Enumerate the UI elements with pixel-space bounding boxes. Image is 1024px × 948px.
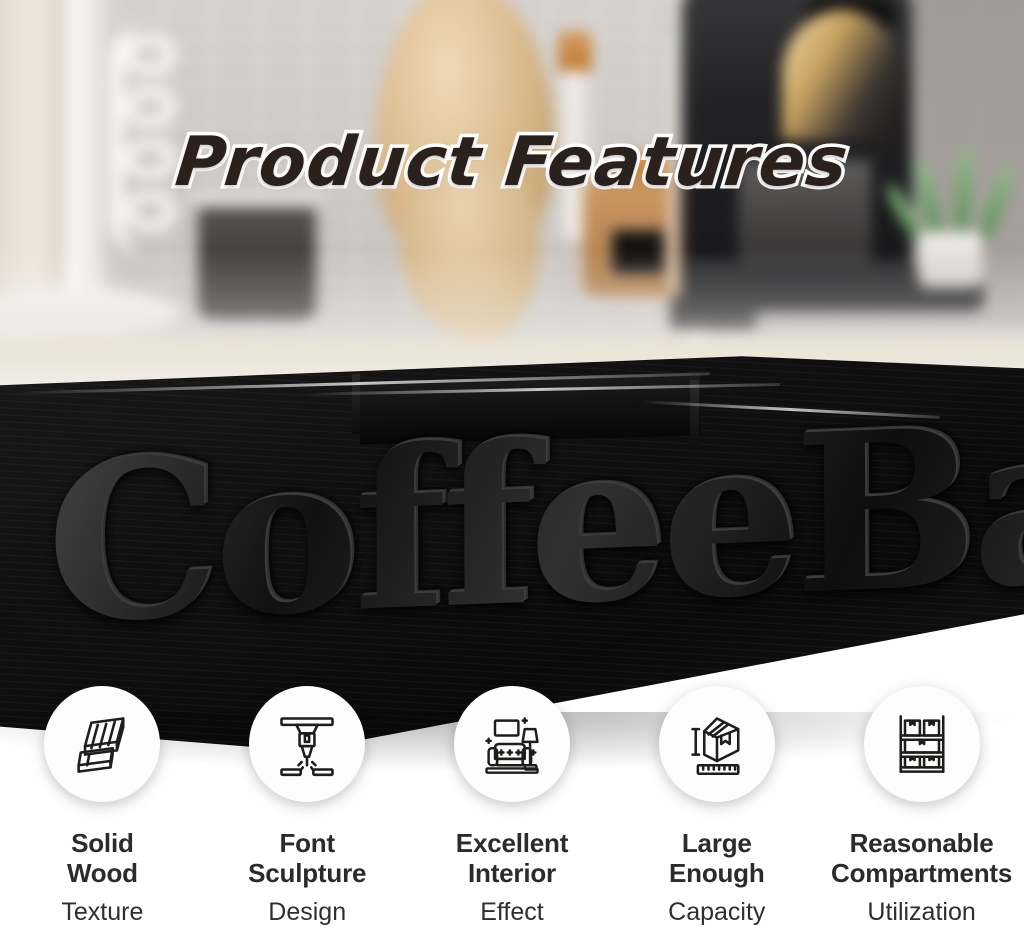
product-cutout-text: CoffeeBar: [46, 391, 1024, 660]
feature-icon-circle: [249, 686, 365, 802]
feature-icon-circle: [44, 686, 160, 802]
feature-item-font-sculpture: Font Sculpture Design: [205, 686, 410, 948]
feature-item-large-enough: Large Enough Capacity: [614, 686, 819, 948]
feature-title: Font Sculpture: [248, 828, 366, 888]
feature-item-reasonable-compartments: Reasonable Compartments Utilization: [819, 686, 1024, 948]
storage-shelf-icon: [888, 710, 956, 778]
vial-cork-1: [558, 32, 592, 74]
living-room-icon: [478, 710, 546, 778]
feature-title-line1: Font: [279, 828, 335, 858]
feature-icon-circle: [659, 686, 775, 802]
feature-subtitle: Effect: [480, 898, 543, 926]
product-features-page: Product Features CoffeeBar CoffeeBar: [0, 0, 1024, 948]
features-row: Solid Wood Texture: [0, 686, 1024, 948]
feature-icon-circle: [864, 686, 980, 802]
machine-head: [782, 10, 902, 140]
feature-title-line2: Enough: [669, 858, 765, 888]
wood-planks-icon: [68, 710, 136, 778]
page-title: Product Features: [172, 124, 852, 202]
feature-title-line2: Sculpture: [248, 858, 366, 888]
feature-title-line1: Reasonable: [850, 828, 994, 858]
feature-icon-circle: [454, 686, 570, 802]
feature-title-line1: Excellent: [456, 828, 568, 858]
cnc-cutter-icon: [273, 710, 341, 778]
feature-subtitle: Capacity: [668, 898, 765, 926]
feature-title: Excellent Interior: [456, 828, 568, 888]
feature-title: Reasonable Compartments: [831, 828, 1012, 888]
feature-title-line2: Interior: [468, 858, 556, 888]
feature-title-line2: Compartments: [831, 858, 1012, 888]
feature-item-excellent-interior: Excellent Interior Effect: [410, 686, 615, 948]
feature-subtitle: Utilization: [867, 898, 975, 926]
feature-title: Large Enough: [669, 828, 765, 888]
feature-item-solid-wood: Solid Wood Texture: [0, 686, 205, 948]
page-title-container: Product Features: [0, 124, 1024, 202]
box-dimensions-icon: [683, 710, 751, 778]
feature-title: Solid Wood: [67, 828, 138, 888]
feature-title-line1: Large: [682, 828, 752, 858]
feature-subtitle: Design: [268, 898, 346, 926]
feature-title-line2: Wood: [67, 858, 138, 888]
feature-subtitle: Texture: [61, 898, 143, 926]
feature-title-line1: Solid: [71, 828, 134, 858]
